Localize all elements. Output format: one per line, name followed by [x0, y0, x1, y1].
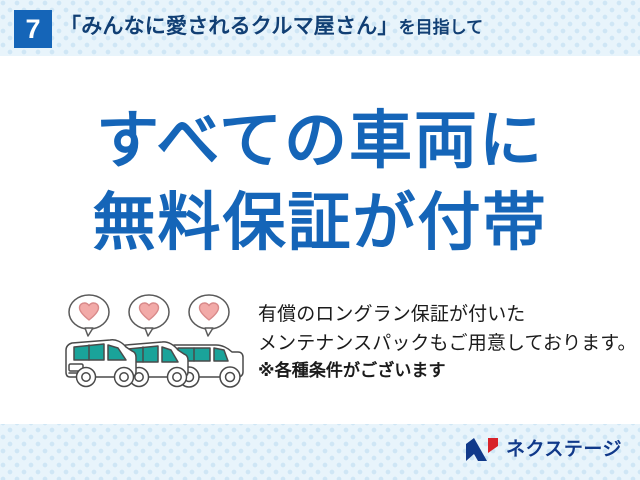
car-kei-wagon [66, 340, 136, 387]
body-line-1: 有償のロングラン保証が付いた [258, 300, 630, 329]
brand-name-text: ネクステージ [506, 439, 622, 461]
page-title-quoted: 「みんなに愛されるクルマ屋さん」 [60, 15, 399, 38]
page-title-tail: を目指して [399, 18, 484, 37]
headline-block: すべての車両に 無料保証が付帯 [0, 100, 640, 264]
footer-bar: ネクステージ [0, 424, 640, 480]
body-disclaimer-note: ※各種条件がございます [258, 358, 630, 384]
nextage-n-logo-icon [465, 437, 499, 462]
heart-bubble-2 [129, 295, 169, 336]
cars-with-hearts-svg [58, 292, 248, 402]
body-copy-block: 有償のロングラン保証が付いた メンテナンスパックもご用意しております。 ※各種条… [258, 300, 630, 384]
heart-bubble-3 [189, 295, 229, 336]
heart-bubble-1 [69, 295, 109, 336]
feature-row: 有償のロングラン保証が付いた メンテナンスパックもご用意しております。 ※各種条… [0, 292, 640, 402]
headline-line-2: 無料保証が付帯 [0, 182, 640, 264]
cars-illustration [58, 292, 248, 402]
section-number-badge: 7 [14, 10, 52, 48]
slide-root: 7 「みんなに愛されるクルマ屋さん」を目指して すべての車両に 無料保証が付帯 [0, 0, 640, 480]
headline-line-1: すべての車両に [0, 100, 640, 182]
brand-lockup: ネクステージ [465, 437, 622, 462]
header-bar: 7 「みんなに愛されるクルマ屋さん」を目指して [0, 0, 640, 56]
page-title: 「みんなに愛されるクルマ屋さん」を目指して [60, 13, 483, 42]
body-line-2: メンテナンスパックもご用意しております。 [258, 329, 630, 358]
